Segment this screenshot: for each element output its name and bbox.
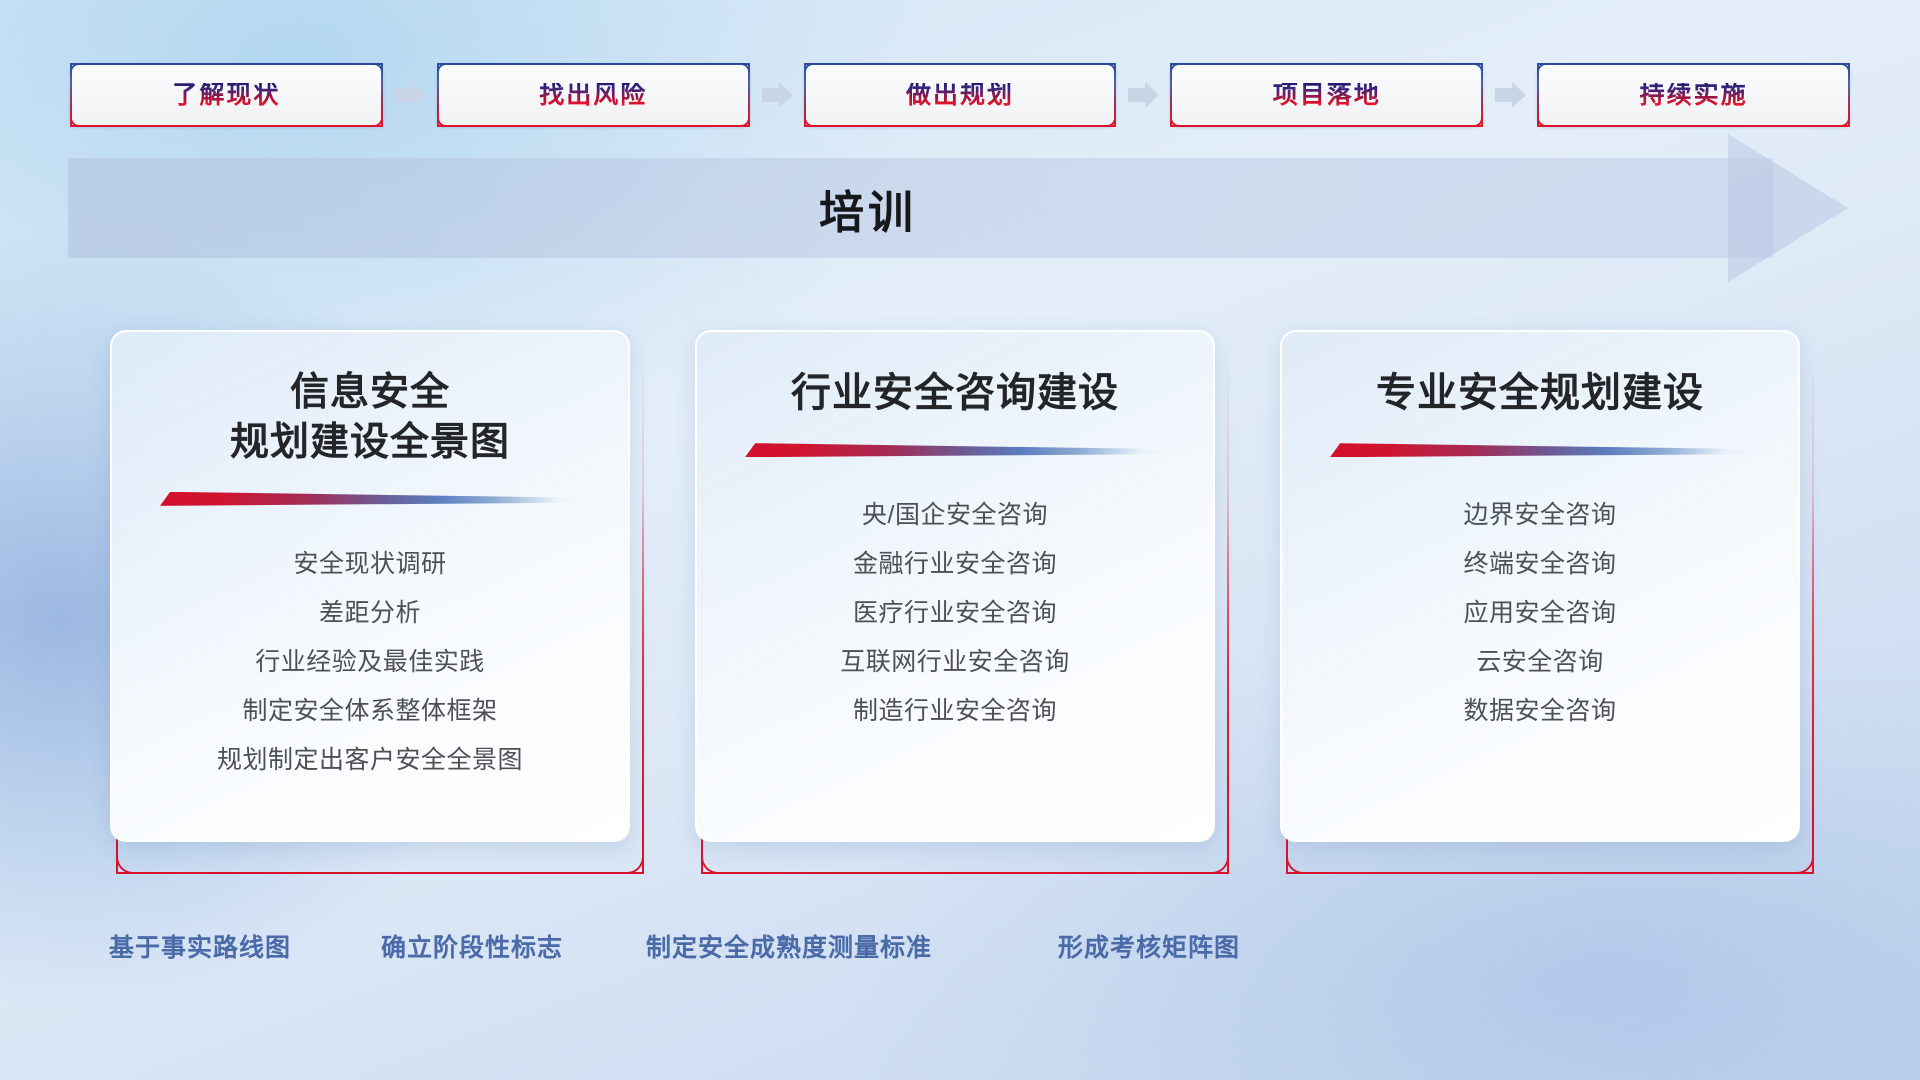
capability-card-3[interactable]: 专业安全规划建设 边界安全咨询 终端安全咨询 应用安全咨询 云安全咨询 数据安全…: [1280, 330, 1810, 870]
list-item: 差距分析: [112, 589, 628, 638]
step-label-4: 项目落地: [1273, 83, 1381, 108]
card-divider-1: [160, 492, 580, 506]
list-item: 规划制定出客户安全全景图: [112, 736, 628, 785]
card-list-2: 央/国企安全咨询 金融行业安全咨询 医疗行业安全咨询 互联网行业安全咨询 制造行…: [697, 491, 1213, 736]
outcome-caption-1: 基于事实路线图: [109, 925, 291, 971]
card-surface-3: 专业安全规划建设 边界安全咨询 终端安全咨询 应用安全咨询 云安全咨询 数据安全…: [1280, 330, 1800, 842]
card-divider-3: [1330, 443, 1750, 457]
outcome-caption-4: 形成考核矩阵图: [1058, 925, 1240, 971]
card-list-1: 安全现状调研 差距分析 行业经验及最佳实践 制定安全体系整体框架 规划制定出客户…: [112, 540, 628, 785]
list-item: 医疗行业安全咨询: [697, 589, 1213, 638]
card-divider-2: [745, 443, 1165, 457]
card-title-2: 行业安全咨询建设: [697, 368, 1213, 419]
step-box-4[interactable]: 项目落地: [1170, 63, 1483, 127]
step-box-5[interactable]: 持续实施: [1537, 63, 1850, 127]
process-step-row: 了解现状 找出风险 做出规划 项目落地 持续实施: [70, 64, 1850, 126]
list-item: 终端安全咨询: [1282, 540, 1798, 589]
step-connector-arrow-icon-3: [1116, 80, 1170, 110]
outcome-caption-row: 基于事实路线图 确立阶段性标志 制定安全成熟度测量标准 形成考核矩阵图: [0, 925, 1920, 971]
list-item: 央/国企安全咨询: [697, 491, 1213, 540]
list-item: 金融行业安全咨询: [697, 540, 1213, 589]
list-item: 制造行业安全咨询: [697, 687, 1213, 736]
card-surface-1: 信息安全 规划建设全景图 安全现状调研 差距分析 行业经验及最佳实践 制定安全体…: [110, 330, 630, 842]
capability-card-1[interactable]: 信息安全 规划建设全景图 安全现状调研 差距分析 行业经验及最佳实践 制定安全体…: [110, 330, 640, 870]
step-label-1: 了解现状: [172, 83, 280, 108]
list-item: 制定安全体系整体框架: [112, 687, 628, 736]
step-label-3: 做出规划: [906, 83, 1014, 108]
banner-arrow-tip-icon: [1728, 134, 1848, 282]
card-surface-2: 行业安全咨询建设 央/国企安全咨询 金融行业安全咨询 医疗行业安全咨询 互联网行…: [695, 330, 1215, 842]
step-label-5: 持续实施: [1640, 83, 1748, 108]
step-box-2[interactable]: 找出风险: [437, 63, 750, 127]
step-connector-arrow-icon-1: [383, 80, 437, 110]
step-box-1[interactable]: 了解现状: [70, 63, 383, 127]
card-title-3: 专业安全规划建设: [1282, 368, 1798, 419]
training-banner-arrow: 培训: [68, 158, 1848, 258]
list-item: 安全现状调研: [112, 540, 628, 589]
step-label-2: 找出风险: [539, 83, 647, 108]
list-item: 应用安全咨询: [1282, 589, 1798, 638]
outcome-caption-3: 制定安全成熟度测量标准: [646, 925, 932, 971]
card-list-3: 边界安全咨询 终端安全咨询 应用安全咨询 云安全咨询 数据安全咨询: [1282, 491, 1798, 736]
card-title-1: 信息安全 规划建设全景图: [112, 368, 628, 468]
slide-canvas: 了解现状 找出风险 做出规划 项目落地 持续实施 培训 信息安全 规划建设全景图: [0, 0, 1920, 1080]
banner-title: 培训: [68, 158, 1668, 258]
step-connector-arrow-icon-2: [750, 80, 804, 110]
capability-card-row: 信息安全 规划建设全景图 安全现状调研 差距分析 行业经验及最佳实践 制定安全体…: [110, 330, 1810, 880]
capability-card-2[interactable]: 行业安全咨询建设 央/国企安全咨询 金融行业安全咨询 医疗行业安全咨询 互联网行…: [695, 330, 1225, 870]
list-item: 互联网行业安全咨询: [697, 638, 1213, 687]
list-item: 数据安全咨询: [1282, 687, 1798, 736]
outcome-caption-2: 确立阶段性标志: [381, 925, 563, 971]
list-item: 云安全咨询: [1282, 638, 1798, 687]
step-connector-arrow-icon-4: [1483, 80, 1537, 110]
step-box-3[interactable]: 做出规划: [804, 63, 1117, 127]
list-item: 边界安全咨询: [1282, 491, 1798, 540]
list-item: 行业经验及最佳实践: [112, 638, 628, 687]
